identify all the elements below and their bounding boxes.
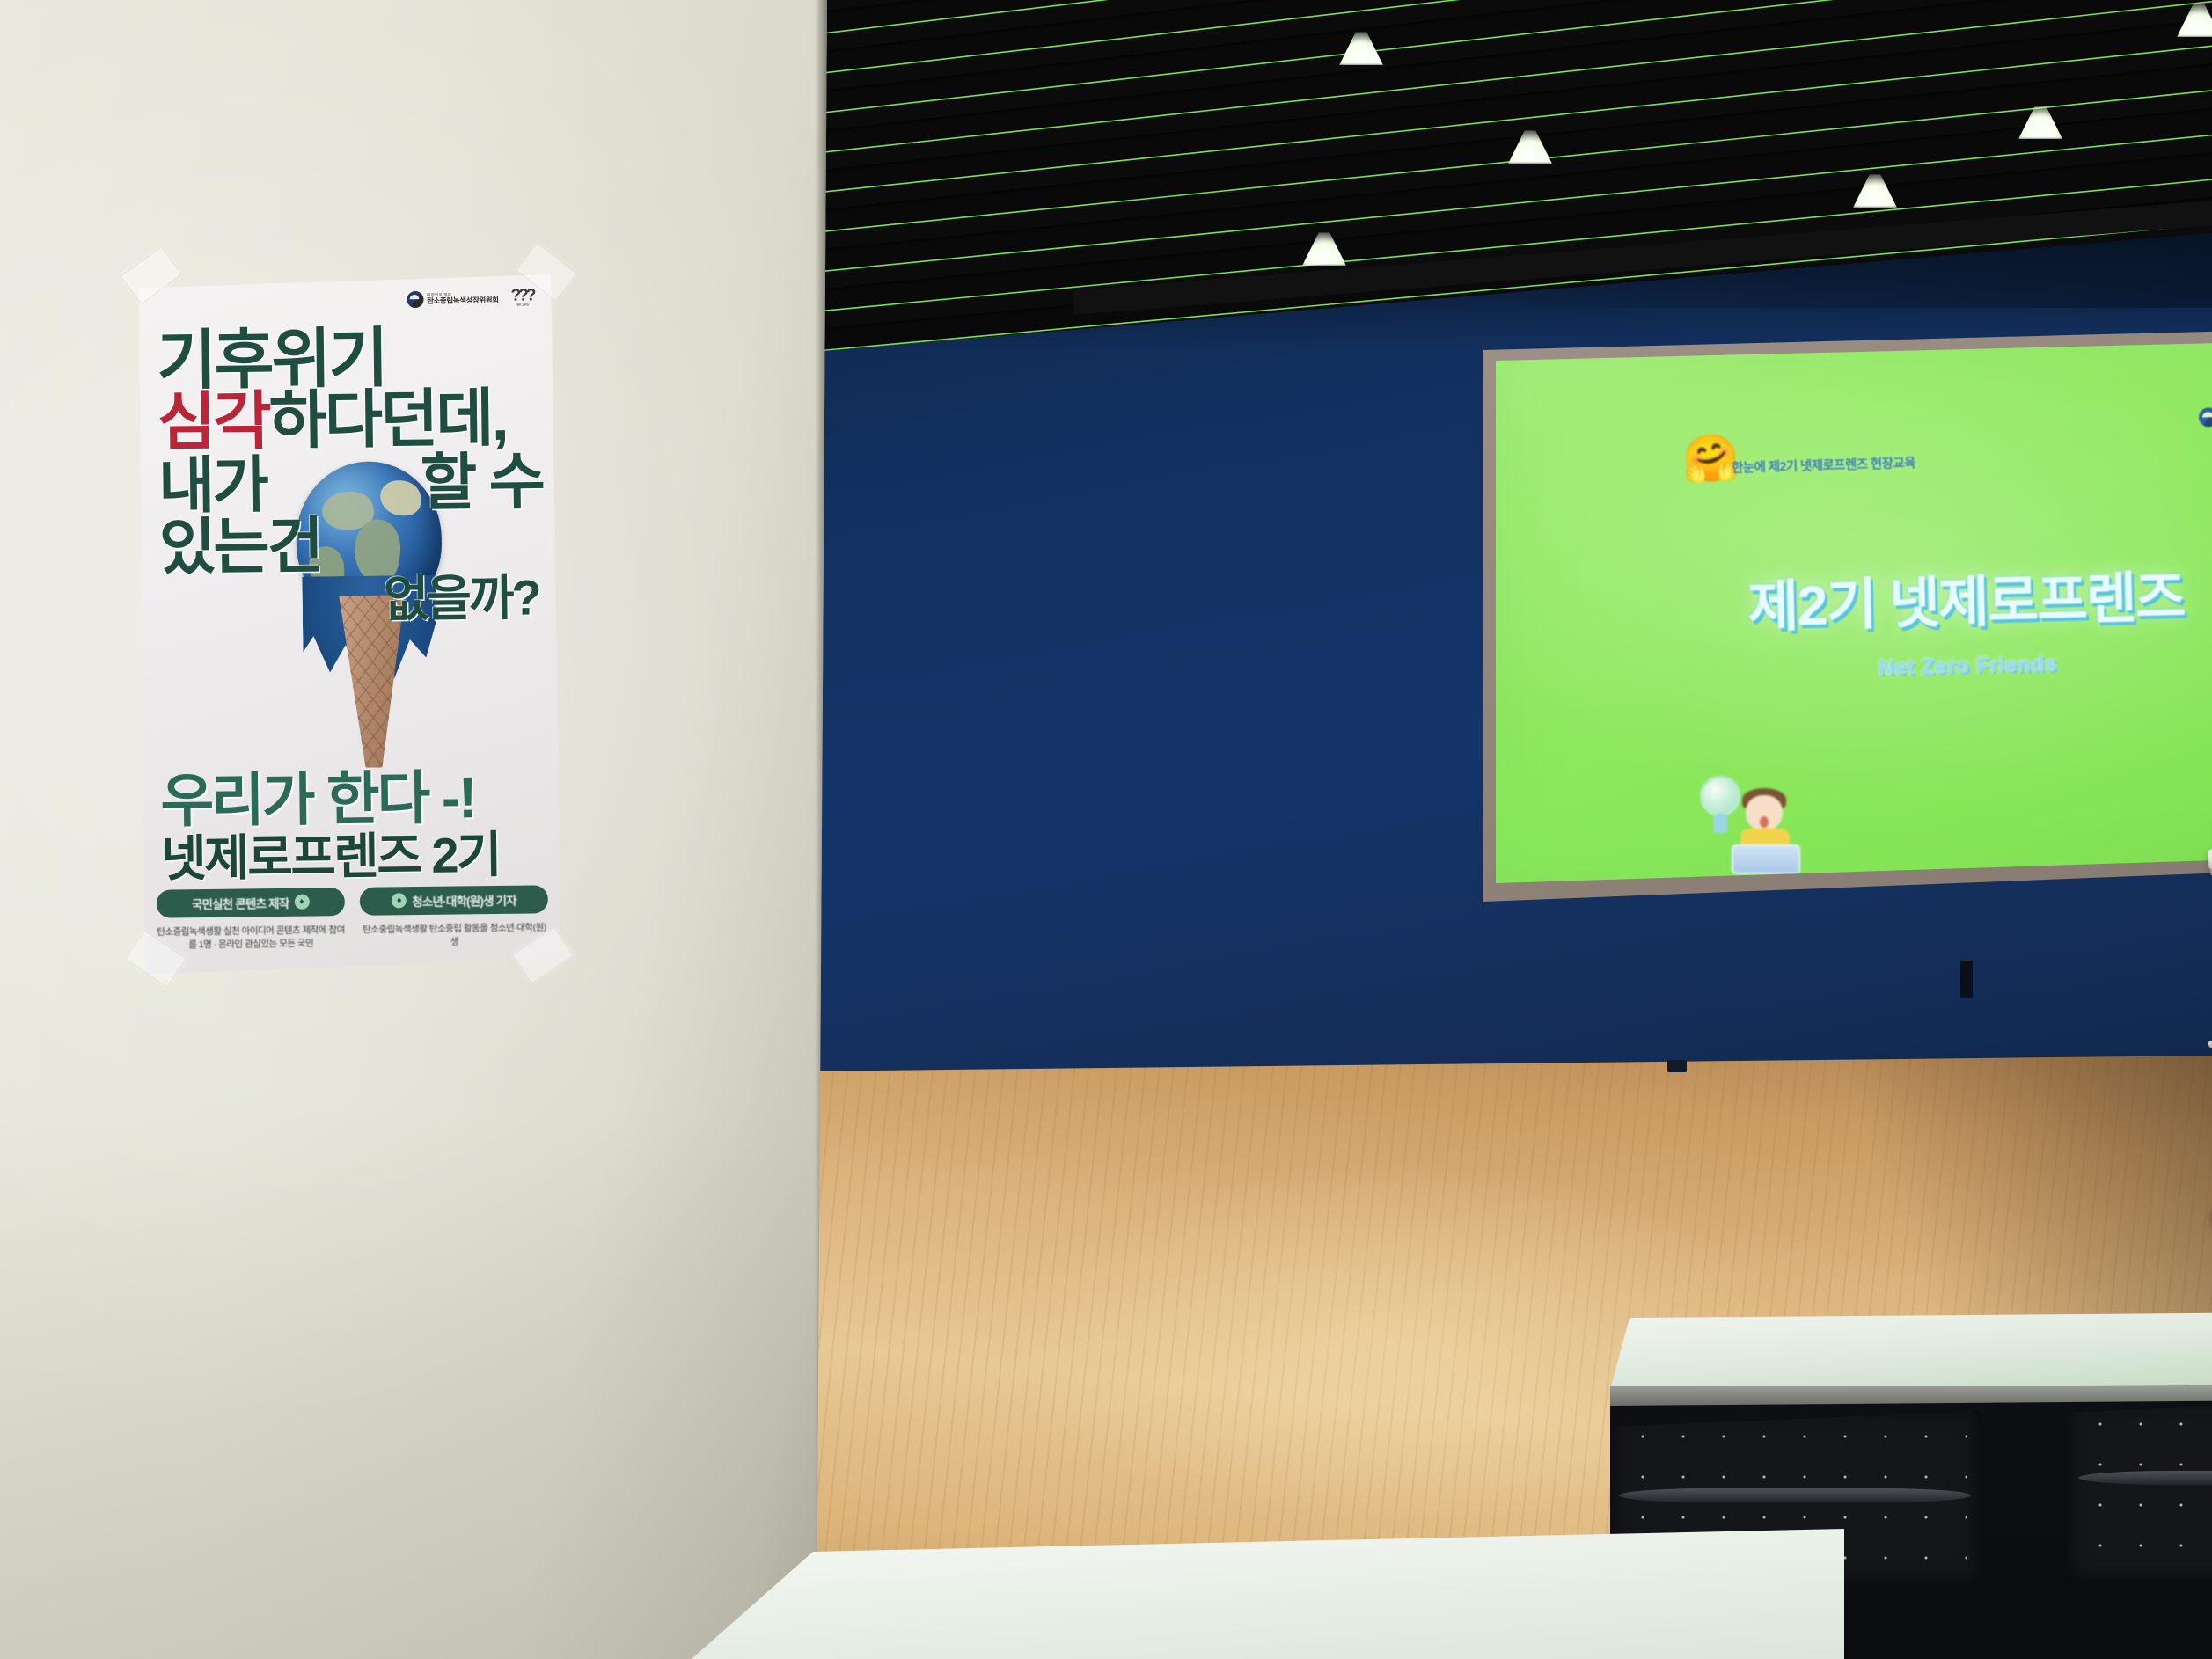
netzero-logo-caption: Net Zero — [516, 303, 529, 307]
floor-edge-clip — [1667, 1060, 1687, 1072]
chair-2[interactable] — [2068, 1395, 2212, 1597]
netzero-logo: ??? Net Zero — [511, 289, 534, 307]
poster-headline-line-4: 있는건 — [159, 515, 545, 577]
taegeuk-icon — [407, 291, 423, 308]
netzero-friends-poster[interactable]: 대한민국 정부 탄소중립녹색성장위원회 ??? Net Zero 기후위기 심각… — [136, 274, 561, 975]
mobile-lectern[interactable]: 새만금 — [2208, 818, 2212, 1293]
poster-headline-emphasis: 심각 — [157, 386, 269, 458]
black-wall-hook — [1960, 961, 1973, 998]
poster-footer-column: 국민실천 콘텐츠 제작 ♦ 탄소중립녹색생활 실천 아이디어 콘텐츠 제작에 참… — [157, 888, 345, 954]
poster-headline: 기후위기 심각하다던데, 내가할 수 있는건 없을까? — [157, 325, 545, 625]
poster-headline-line-1: 기후위기 — [157, 325, 542, 391]
poster-footer-column: ● 청소년·대학(원)생 기자 탄소중립녹색생활 탄소중립 활동을 청소년·대학… — [360, 885, 548, 951]
wall-lower-shadow — [0, 1114, 827, 1659]
poster-footer-pill-label: 청소년·대학(원)생 기자 — [412, 890, 516, 909]
projection-screen[interactable]: 🤗 한눈에 제2기 넷제로프렌즈 현장교육 대한민국 2050 탄소중립녹색성장… — [1496, 338, 2212, 883]
poster-headline-line-3-tail: 할 수 — [420, 454, 543, 513]
megaphone-icon: ♦ — [294, 895, 309, 910]
poster-headline-line-2: 심각하다던데, — [157, 389, 543, 453]
poster-call-to-action: 우리가 한다 -! 넷제로프렌즈 2기 — [160, 767, 548, 885]
chair-perforation — [2080, 1404, 2212, 1571]
poster-logo-row: 대한민국 정부 탄소중립녹색성장위원회 ??? Net Zero — [407, 289, 534, 308]
poster-footer-pill: 국민실천 콘텐츠 제작 ♦ — [157, 888, 345, 918]
poster-headline-line-5: 없을까? — [159, 574, 545, 625]
poster-footer-description: 탄소중립녹색생활 탄소중립 활동을 청소년·대학(원)생 — [361, 921, 549, 951]
lectern-side-rail — [2208, 1035, 2212, 1048]
poster-footer: 국민실천 콘텐츠 제작 ♦ 탄소중립녹색생활 실천 아이디어 콘텐츠 제작에 참… — [144, 885, 561, 954]
poster-headline-line-3-head: 내가 — [158, 450, 267, 520]
poster-footer-pill-label: 국민실천 콘텐츠 제작 — [192, 893, 289, 911]
person-icon: ● — [392, 893, 407, 908]
chair-backrest — [2068, 1395, 2212, 1580]
gov-logo-name: 탄소중립녹색성장위원회 — [427, 296, 499, 304]
poster-footer-pill: ● 청소년·대학(원)생 기자 — [360, 885, 548, 916]
netzero-logo-marks: ??? — [511, 289, 534, 303]
student-with-laptop-icon — [1700, 772, 1805, 878]
table-left[interactable] — [1610, 1311, 2212, 1390]
chair-top-rim — [1619, 1488, 1971, 1502]
laptop-icon — [1732, 844, 1800, 874]
slide-committee-logo: 대한민국 2050 탄소중립녹색성장위원회 — [2199, 405, 2212, 427]
poster-headline-line-3: 내가할 수 — [158, 454, 544, 516]
taegeuk-icon — [2199, 407, 2212, 428]
lectern-worktop — [2208, 837, 2212, 871]
magnifier-icon — [1700, 776, 1740, 816]
character-mouth — [1760, 816, 1769, 828]
poster-headline-line-2-rest: 하다던데, — [268, 383, 507, 456]
poster-cta-line-1: 우리가 한다 -! — [160, 767, 547, 829]
poster-cta-line-2: 넷제로프렌즈 2기 — [161, 829, 548, 885]
government-logo: 대한민국 정부 탄소중립녹색성장위원회 — [407, 289, 499, 307]
poster-footer-description: 탄소중립녹색생활 실천 아이디어 콘텐츠 제작에 참여를 1명 · 온라인 관심… — [157, 924, 345, 954]
room-interior: 🤗 한눈에 제2기 넷제로프렌즈 현장교육 대한민국 2050 탄소중립녹색성장… — [792, 0, 2212, 1659]
slide-title-block: 제2기 넷제로프렌즈 Net Zero Friends — [1496, 547, 2212, 690]
room-photo-scene: 🤗 한눈에 제2기 넷제로프렌즈 현장교육 대한민국 2050 탄소중립녹색성장… — [0, 0, 2212, 1659]
